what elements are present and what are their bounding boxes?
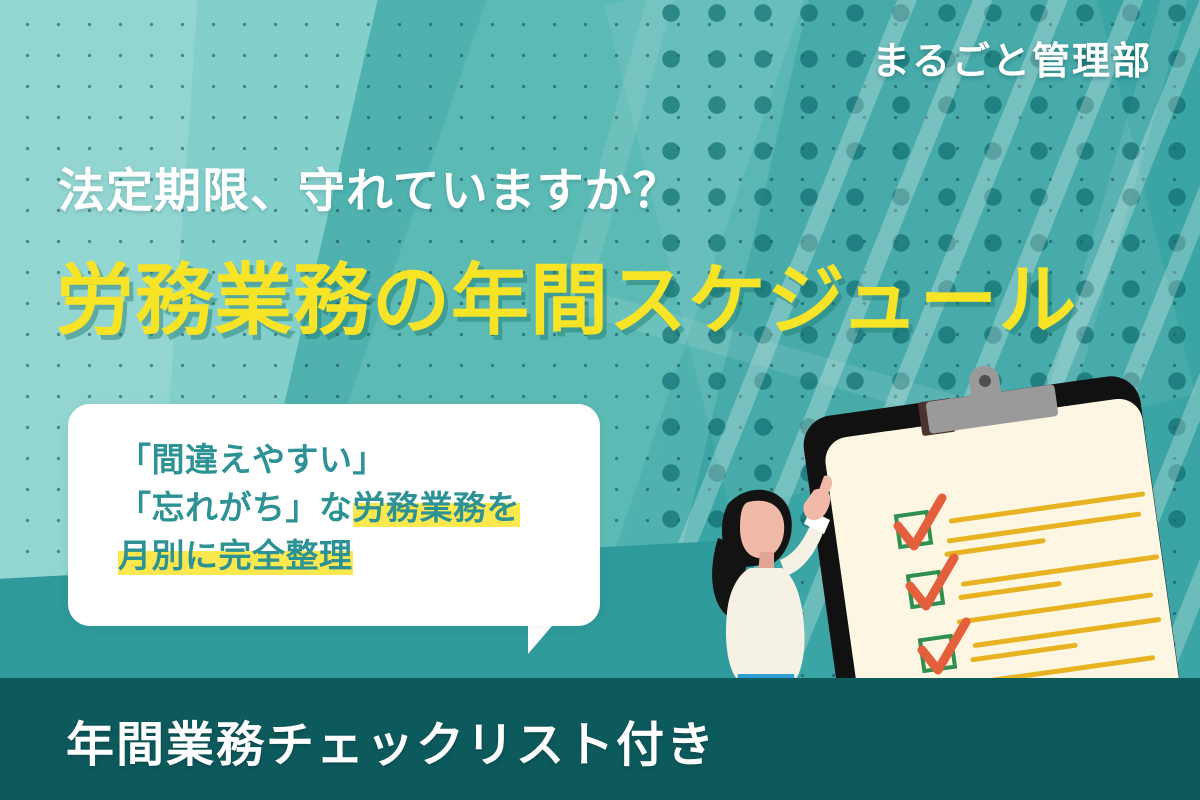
bubble-line-2-highlight: 労務業務を [353, 488, 521, 527]
check-icon [916, 616, 976, 682]
headline-title: 労務業務の年間スケジュール [56, 238, 1078, 350]
check-icon [904, 552, 964, 618]
brand-logo: まるごと管理部 [872, 30, 1152, 85]
bubble-line-3-highlight: 月別に完全整理 [118, 536, 353, 575]
bubble-line-2-plain: 「忘れがち」な [118, 488, 353, 527]
speech-bubble-text: 「間違えやすい」 「忘れがち」な労務業務を 月別に完全整理 [118, 436, 520, 580]
speech-bubble: 「間違えやすい」 「忘れがち」な労務業務を 月別に完全整理 [68, 404, 600, 626]
check-icon [892, 492, 952, 558]
headline-subtitle: 法定期限、守れていますか？ [58, 152, 681, 221]
bubble-line-2: 「忘れがち」な労務業務を [118, 484, 520, 532]
banner-canvas: まるごと管理部 法定期限、守れていますか？ 労務業務の年間スケジュール [0, 0, 1200, 800]
bubble-line-3: 月別に完全整理 [118, 532, 520, 580]
bubble-line-1: 「間違えやすい」 [118, 436, 520, 484]
bottom-banner-text: 年間業務チェックリスト付き [66, 705, 716, 775]
